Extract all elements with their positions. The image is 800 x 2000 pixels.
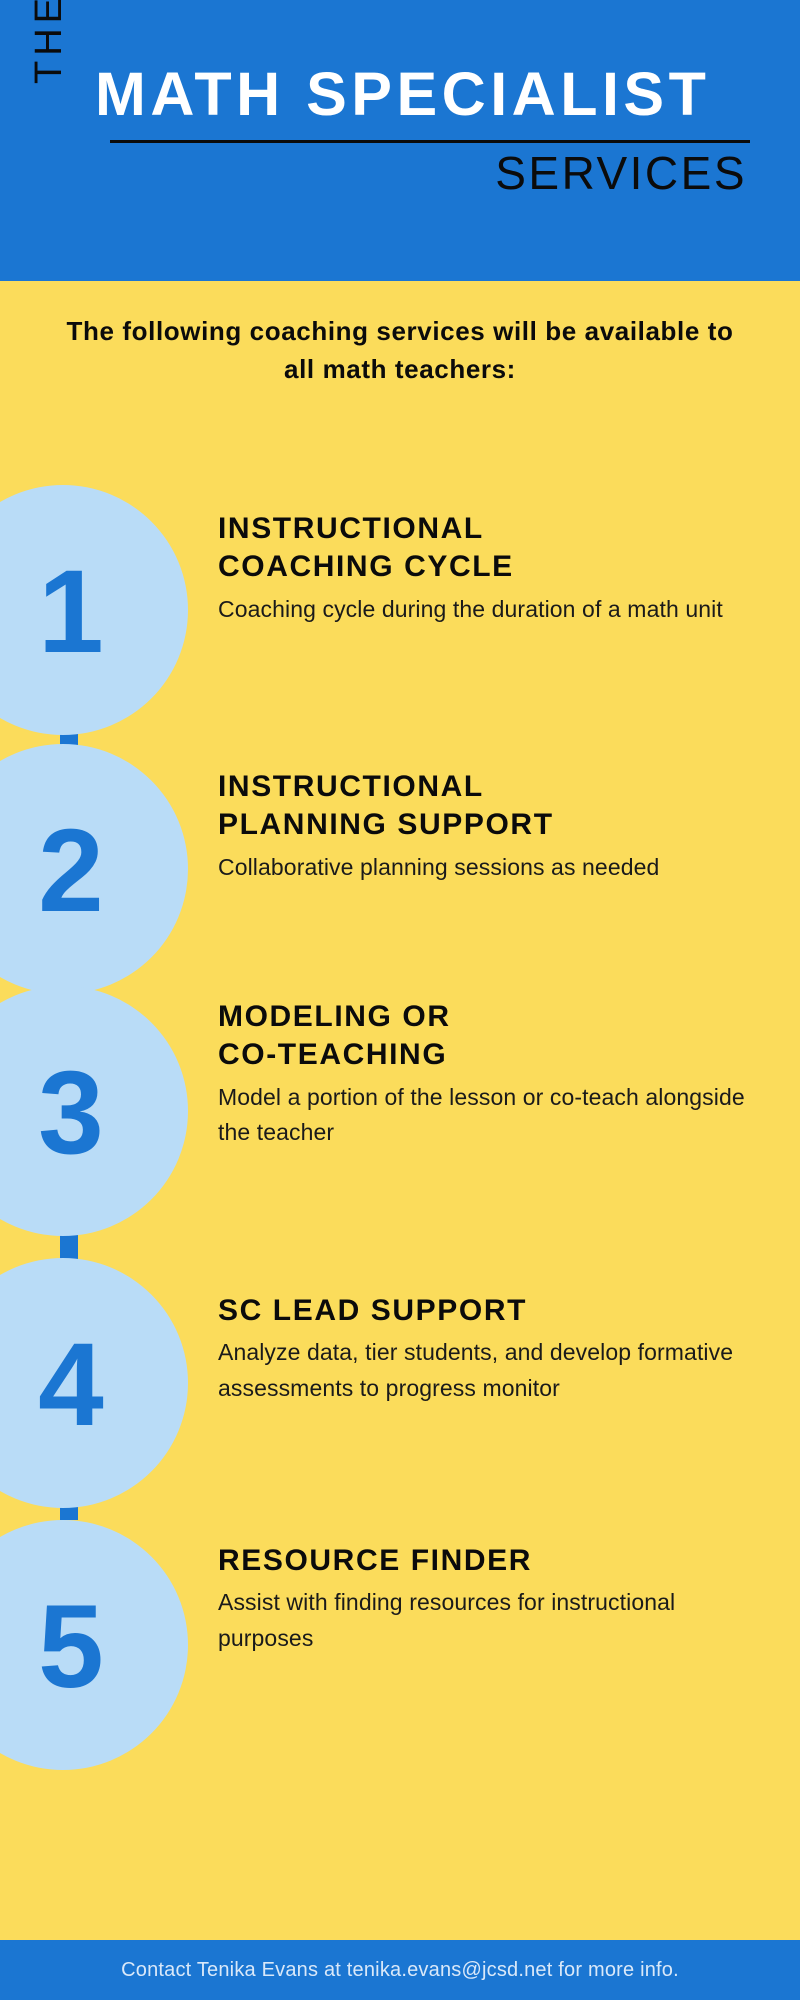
footer-bar: Contact Tenika Evans at tenika.evans@jcs… (0, 1940, 800, 2000)
item-title: SC LEAD SUPPORT (218, 1292, 758, 1330)
list-item: 3 MODELING OR CO-TEACHING Model a portio… (0, 960, 800, 1230)
step-number: 1 (38, 553, 104, 671)
item-text: SC LEAD SUPPORT Analyze data, tier stude… (218, 1292, 758, 1407)
item-description: Assist with finding resources for instru… (218, 1585, 758, 1656)
item-description: Analyze data, tier students, and develop… (218, 1335, 758, 1406)
item-title: INSTRUCTIONAL COACHING CYCLE (218, 510, 758, 587)
step-circle: 3 (0, 986, 188, 1236)
header-eyebrow: THE (28, 0, 71, 84)
step-number: 3 (38, 1054, 104, 1172)
step-number: 4 (38, 1326, 104, 1444)
item-text: RESOURCE FINDER Assist with finding reso… (218, 1542, 758, 1657)
services-timeline: 1 INSTRUCTIONAL COACHING CYCLE Coaching … (0, 470, 800, 1730)
item-description: Collaborative planning sessions as neede… (218, 850, 758, 886)
header-subtitle: SERVICES (495, 146, 747, 200)
list-item: 2 INSTRUCTIONAL PLANNING SUPPORT Collabo… (0, 720, 800, 960)
list-item: 4 SC LEAD SUPPORT Analyze data, tier stu… (0, 1230, 800, 1480)
item-title: RESOURCE FINDER (218, 1542, 758, 1580)
step-circle: 4 (0, 1258, 188, 1508)
header-banner: THE MATH SPECIALIST SERVICES (0, 0, 800, 281)
intro-text: The following coaching services will be … (0, 313, 800, 388)
step-circle: 2 (0, 744, 188, 994)
header-divider (110, 140, 750, 143)
step-number: 5 (38, 1588, 104, 1706)
step-number: 2 (38, 812, 104, 930)
item-title: INSTRUCTIONAL PLANNING SUPPORT (218, 768, 758, 845)
list-item: 1 INSTRUCTIONAL COACHING CYCLE Coaching … (0, 470, 800, 720)
page-title: MATH SPECIALIST (95, 64, 710, 125)
step-circle: 5 (0, 1520, 188, 1770)
item-text: MODELING OR CO-TEACHING Model a portion … (218, 998, 758, 1151)
list-item: 5 RESOURCE FINDER Assist with finding re… (0, 1480, 800, 1730)
item-description: Coaching cycle during the duration of a … (218, 592, 758, 628)
infographic-poster: THE MATH SPECIALIST SERVICES The followi… (0, 0, 800, 2000)
item-title: MODELING OR CO-TEACHING (218, 998, 758, 1075)
item-description: Model a portion of the lesson or co-teac… (218, 1080, 758, 1151)
item-text: INSTRUCTIONAL PLANNING SUPPORT Collabora… (218, 768, 758, 885)
item-text: INSTRUCTIONAL COACHING CYCLE Coaching cy… (218, 510, 758, 627)
step-circle: 1 (0, 485, 188, 735)
contact-info: Contact Tenika Evans at tenika.evans@jcs… (121, 1959, 679, 1982)
